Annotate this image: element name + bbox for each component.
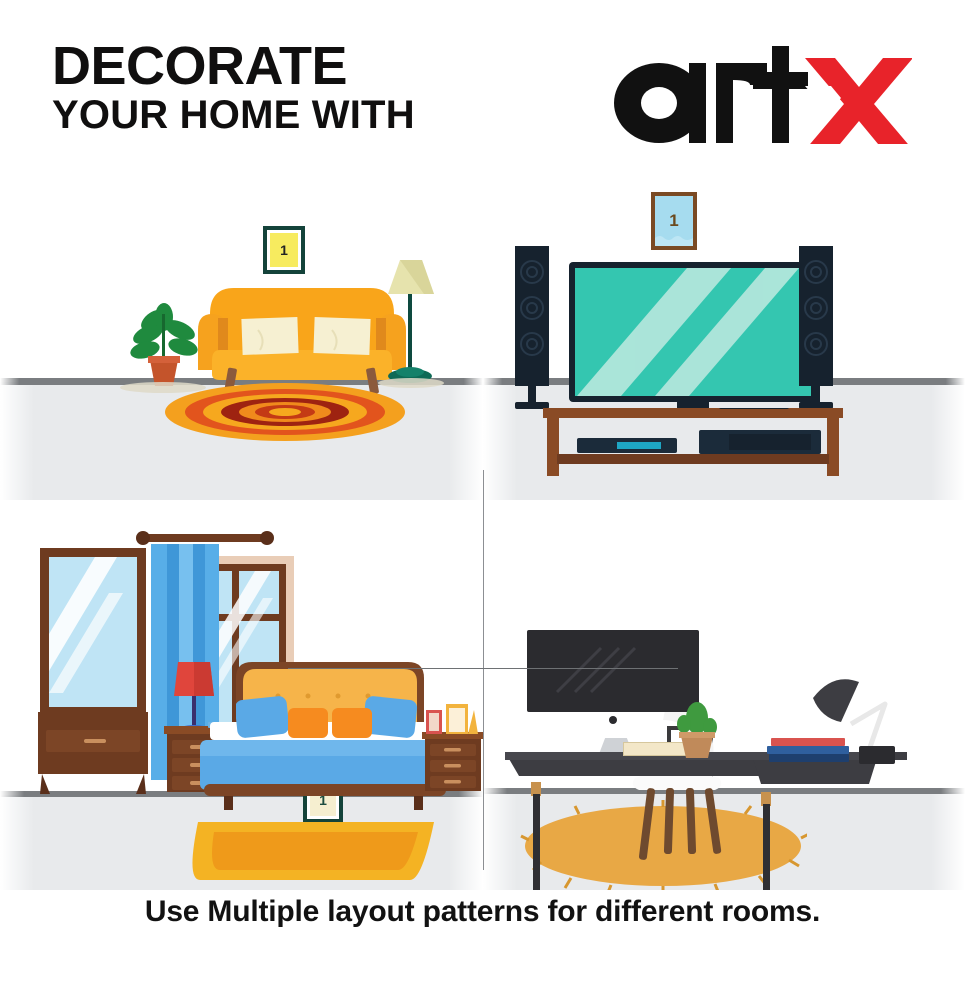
- wall-art-living[interactable]: 1: [263, 226, 305, 274]
- poster-canvas: DECORATE YOUR HOME WITH: [0, 0, 965, 1000]
- scene-divider-horizontal: [288, 668, 678, 669]
- scene-tv-room: 1: [483, 170, 965, 500]
- scene-home-office: 1: [483, 500, 965, 890]
- artx-logo-mark: [612, 46, 912, 144]
- logo-letter-x: [805, 58, 912, 144]
- media-devices: [577, 430, 821, 454]
- headline-line-2: YOUR HOME WITH: [52, 96, 415, 135]
- wall-art-tv[interactable]: 1: [651, 192, 697, 250]
- photo-frames: [424, 702, 482, 734]
- wall-art-number: 1: [669, 211, 678, 231]
- caption-text: Use Multiple layout patterns for differe…: [145, 895, 820, 928]
- scene-bedroom: 1: [0, 500, 483, 890]
- room-scenes: 1: [0, 170, 965, 890]
- wall-art-number: 1: [280, 242, 288, 258]
- footer-caption: Use Multiple layout patterns for differe…: [0, 895, 965, 929]
- scene-divider-vertical: [483, 470, 484, 870]
- scene-living-room: 1: [0, 170, 483, 500]
- logo-letter-t: [753, 46, 808, 143]
- header: DECORATE YOUR HOME WITH: [0, 0, 965, 175]
- artx-logo: [612, 46, 912, 144]
- headline-line-1: DECORATE: [52, 40, 415, 93]
- page-title: DECORATE YOUR HOME WITH: [52, 40, 415, 135]
- logo-letter-a: [614, 63, 706, 143]
